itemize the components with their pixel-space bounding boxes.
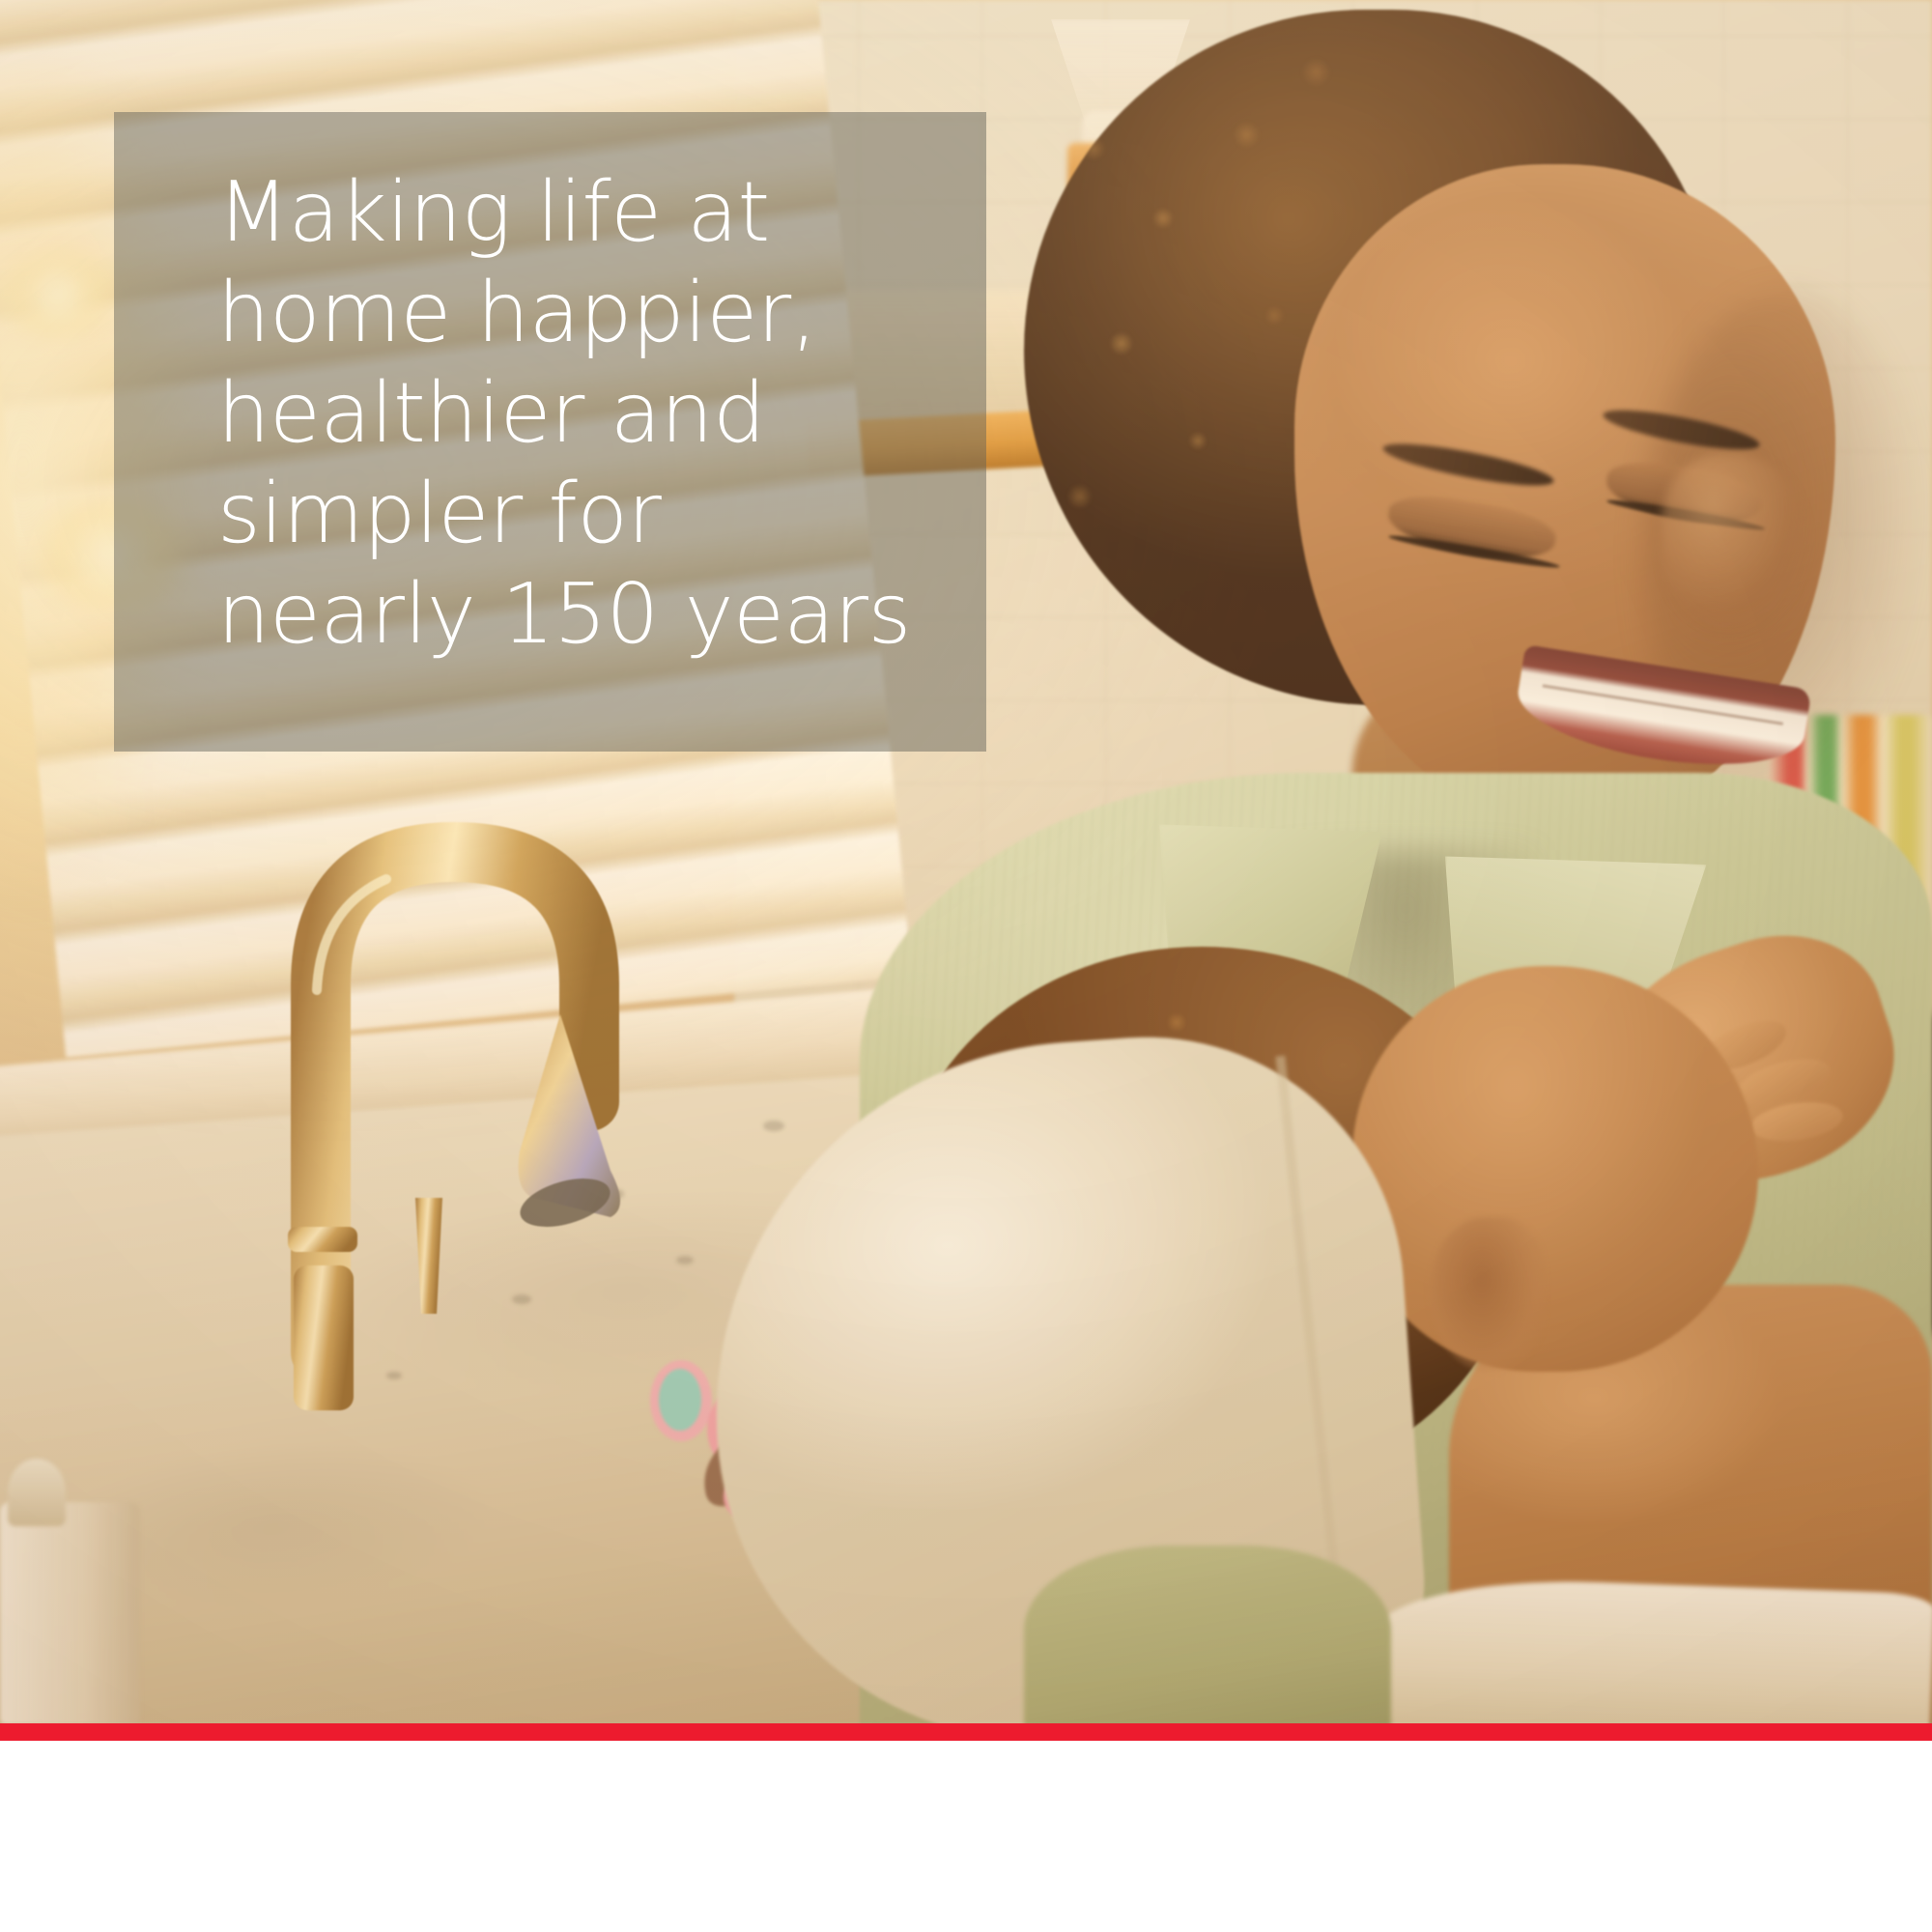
advertisement-canvas: Making life at home happier, healthier a… xyxy=(0,0,1932,1932)
brand-accent-bar xyxy=(0,1723,1932,1741)
hero-photo: Making life at home happier, healthier a… xyxy=(0,0,1932,1723)
headline-text: Making life at home happier, healthier a… xyxy=(217,162,980,665)
brand-footer: American Standard xyxy=(0,1741,1932,1932)
